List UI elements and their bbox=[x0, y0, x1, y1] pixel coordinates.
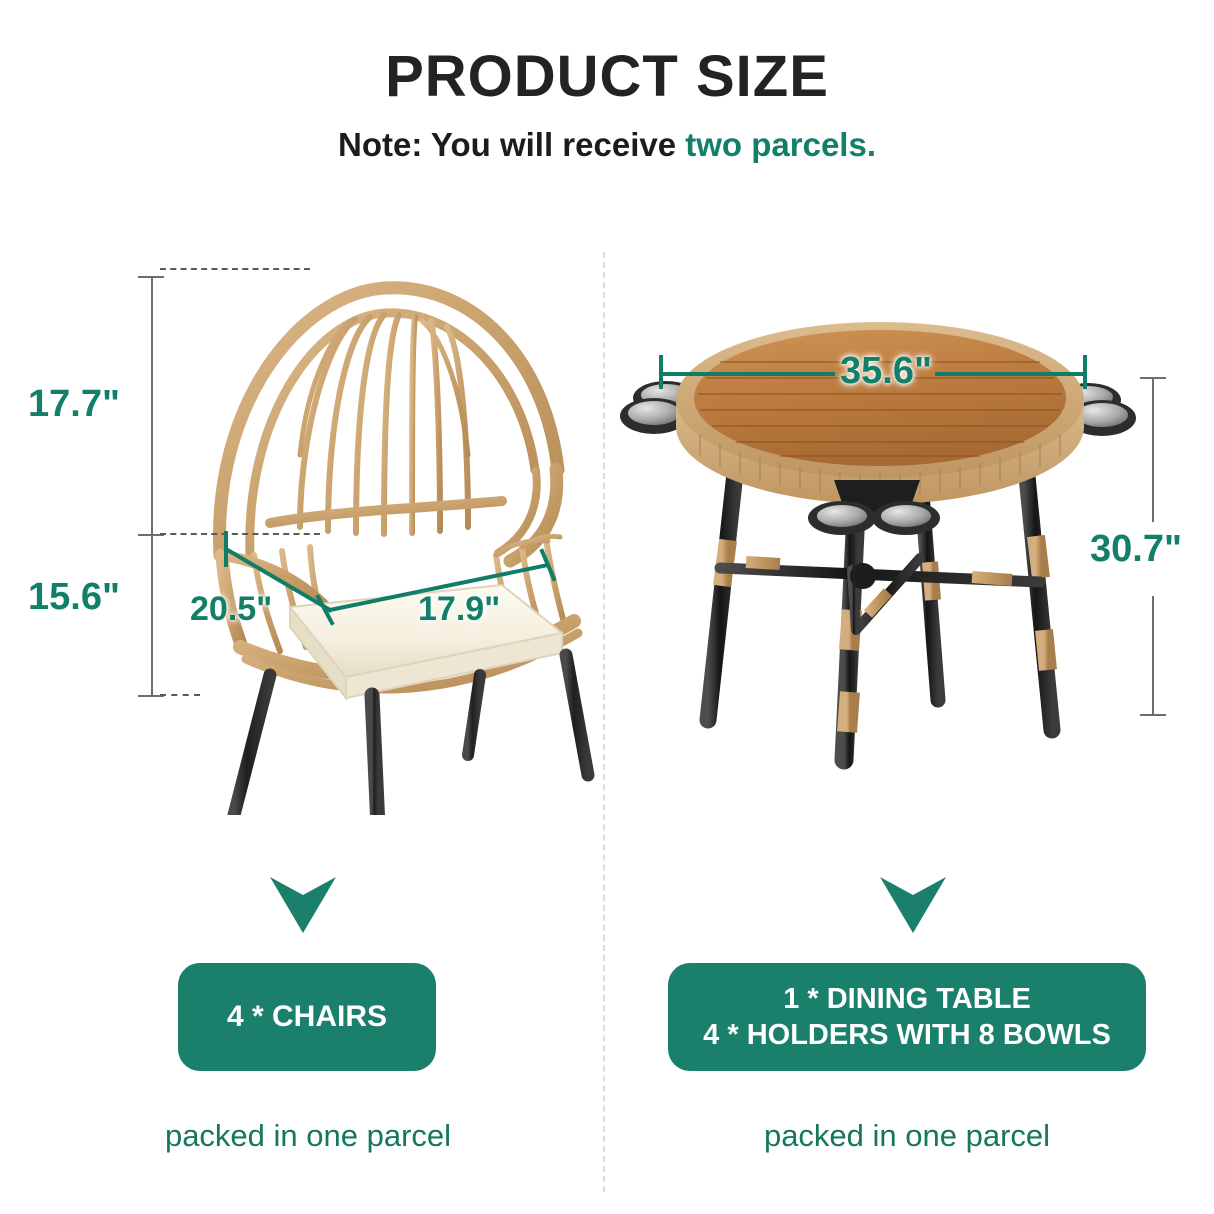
table-badge-line2: 4 * HOLDERS WITH 8 BOWLS bbox=[703, 1017, 1111, 1053]
table-height-rail-top bbox=[1152, 378, 1154, 522]
chair-dim-cap-top bbox=[138, 276, 164, 278]
chair-parcel-badge: 4 * CHAIRS bbox=[178, 963, 436, 1071]
chair-dim-rail bbox=[151, 277, 153, 697]
page-subtitle: Note: You will receive two parcels. bbox=[0, 128, 1214, 161]
page-title: PRODUCT SIZE bbox=[0, 48, 1214, 106]
table-height-rail-bottom bbox=[1152, 596, 1154, 716]
table-badge-line1: 1 * DINING TABLE bbox=[783, 981, 1031, 1017]
chair-seat-depth-label: 20.5" bbox=[190, 592, 272, 626]
subtitle-prefix: Note: You will receive bbox=[338, 126, 685, 163]
chair-guide-bottom bbox=[160, 694, 200, 696]
table-height-label: 30.7" bbox=[1090, 530, 1182, 568]
table-parcel-caption: packed in one parcel bbox=[737, 1120, 1077, 1151]
chair-seat-height-label: 15.6" bbox=[28, 578, 120, 616]
table-dim-cap-bottom bbox=[1140, 714, 1166, 716]
table-parcel-badge: 1 * DINING TABLE 4 * HOLDERS WITH 8 BOWL… bbox=[668, 963, 1146, 1071]
chair-badge-label: 4 * CHAIRS bbox=[227, 998, 387, 1036]
chair-parcel-caption: packed in one parcel bbox=[138, 1120, 478, 1151]
down-arrow-icon-left bbox=[268, 873, 338, 935]
chair-back-height-label: 17.7" bbox=[28, 385, 120, 423]
subtitle-highlight: two parcels. bbox=[685, 126, 876, 163]
chair-guide-top bbox=[160, 268, 310, 270]
down-arrow-icon-right bbox=[878, 873, 948, 935]
infographic-canvas: PRODUCT SIZE Note: You will receive two … bbox=[0, 0, 1214, 1214]
table-diameter-label: 35.6" bbox=[840, 352, 932, 390]
chair-seat-width-label: 17.9" bbox=[418, 592, 500, 626]
table-dim-cap-top bbox=[1140, 377, 1166, 379]
